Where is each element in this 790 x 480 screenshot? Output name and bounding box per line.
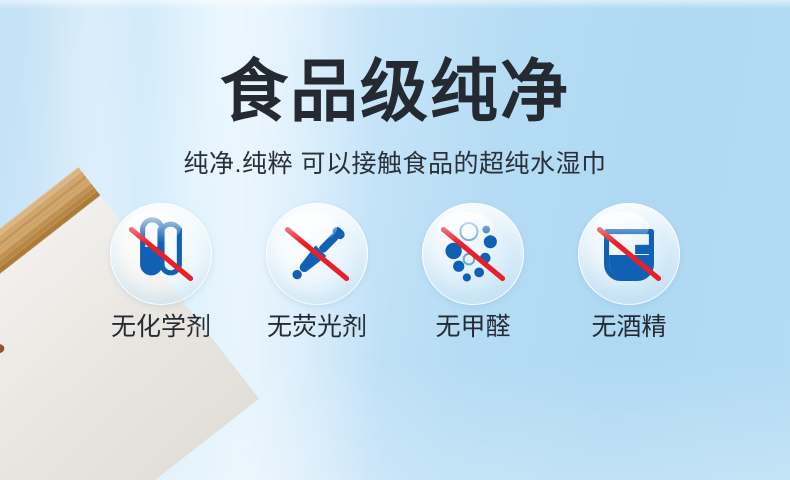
dropper-icon [266,203,368,305]
feature-item: 无荧光剂 [253,203,381,340]
feature-label: 无化学剂 [111,315,211,340]
feature-bubble [266,203,368,305]
feature-bubble [110,203,212,305]
page-subtitle: 纯净.纯粹 可以接触食品的超纯水湿巾 [184,152,607,177]
beaker-icon [578,203,680,305]
feature-bubble [422,203,524,305]
feature-bubble [578,203,680,305]
feature-label: 无荧光剂 [267,315,367,340]
page-title: 食品级纯净 [220,58,570,126]
feature-label: 无酒精 [591,315,666,340]
feature-item: 无化学剂 [97,203,225,340]
feature-list: 无化学剂 无荧光剂 [97,203,693,340]
feature-item: 无酒精 [565,203,693,340]
poster-content: 食品级纯净 纯净.纯粹 可以接触食品的超纯水湿巾 [0,0,790,480]
molecule-dots-icon [422,203,524,305]
test-tubes-icon [110,203,212,305]
feature-item: 无甲醛 [409,203,537,340]
feature-label: 无甲醛 [435,315,510,340]
promo-poster: 食品级纯净 纯净.纯粹 可以接触食品的超纯水湿巾 [0,0,790,480]
